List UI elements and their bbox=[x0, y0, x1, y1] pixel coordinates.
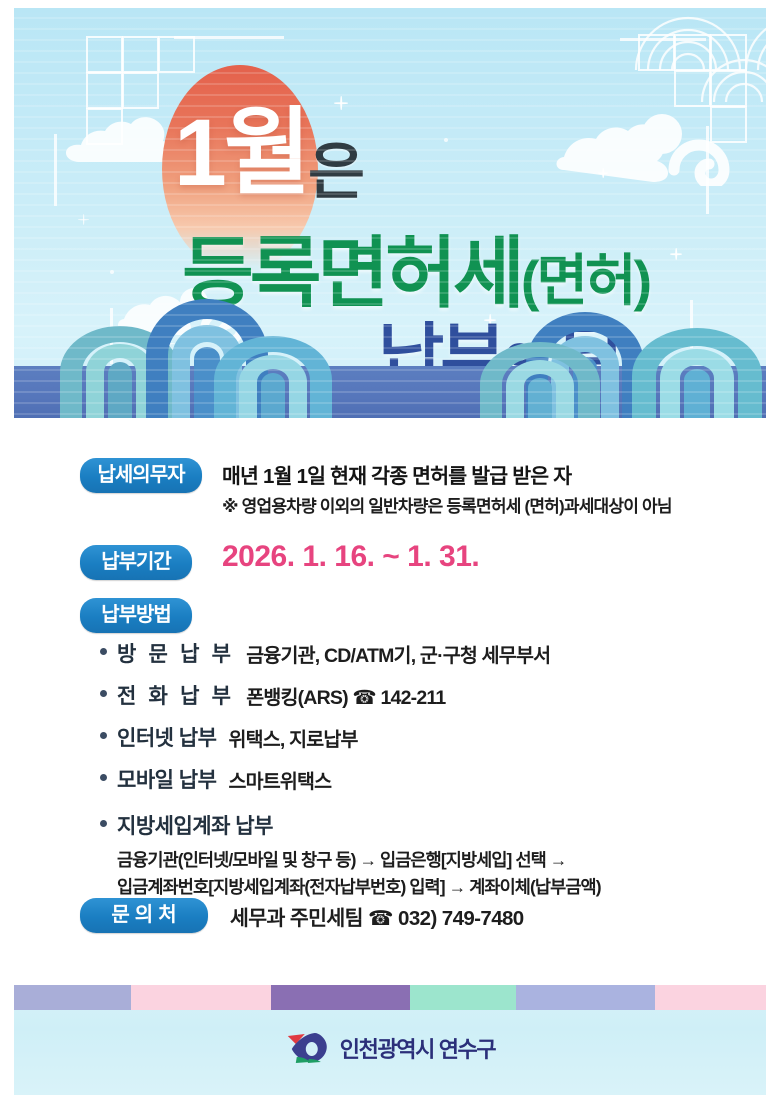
method-label: 전 화 납 부 bbox=[117, 680, 234, 710]
color-bar bbox=[14, 985, 766, 1010]
color-bar-segment bbox=[271, 985, 409, 1010]
poster-root: 1월 은 등록면허세(면허) 납부의 달 bbox=[0, 0, 780, 1103]
list-item-mobile: 모바일 납부스마트위택스 bbox=[100, 764, 740, 794]
particle-eun: 은 bbox=[308, 121, 363, 211]
list-item-internet: 인터넷 납부위택스, 지로납부 bbox=[100, 722, 740, 752]
account-step-line-2: 입금계좌번호[지방세입계좌(전자납부번호) 입력] → 계좌이체(납부금액) bbox=[117, 874, 740, 901]
yeonsu-gu-logo-icon bbox=[285, 1031, 331, 1065]
bullet-icon bbox=[100, 648, 107, 655]
concentric-rings-decor bbox=[626, 8, 766, 124]
bullet-icon bbox=[100, 732, 107, 739]
list-item-visit: 방 문 납 부금융기관, CD/ATM기, 군·구청 세무부서 bbox=[100, 638, 740, 668]
sparkle-decor bbox=[598, 168, 608, 178]
taxpayer-note-text: ※ 영업용차량 이외의 일반차량은 등록면허세 (면허)과세대상이 아님 bbox=[222, 492, 672, 517]
bullet-icon bbox=[100, 690, 107, 697]
method-value: 금융기관, CD/ATM기, 군·구청 세무부서 bbox=[246, 639, 550, 668]
arch-decor-right-b bbox=[480, 336, 600, 418]
section-period: 납부기간 2026. 1. 16. ~ 1. 31. bbox=[80, 545, 192, 580]
header-banner: 1월 은 등록면허세(면허) 납부의 달 bbox=[14, 8, 766, 418]
section-contact: 문의처 세무과 주민세팀 ☎ 032) 749-7480 bbox=[80, 898, 208, 933]
method-value: 폰뱅킹(ARS) ☎ 142-211 bbox=[246, 681, 445, 710]
account-steps: 금융기관(인터넷/모바일 및 창구 등) → 입금은행[지방세입] 선택 → 입… bbox=[117, 847, 740, 901]
arch-decor-left-c bbox=[214, 330, 332, 418]
account-step-line-1: 금융기관(인터넷/모바일 및 창구 등) → 입금은행[지방세입] 선택 → bbox=[117, 847, 740, 874]
sparkle-decor bbox=[78, 214, 89, 225]
decor-rule bbox=[174, 36, 284, 39]
taxpayer-main-text: 매년 1월 1일 현재 각종 면허를 발급 받은 자 bbox=[222, 459, 571, 489]
method-label: 방 문 납 부 bbox=[117, 638, 234, 668]
color-bar-segment bbox=[14, 985, 131, 1010]
sparkle-decor bbox=[670, 248, 682, 260]
footer-banner: 인천광역시 연수구 bbox=[14, 985, 766, 1095]
badge-taxpayer: 납세의무자 bbox=[80, 458, 202, 493]
color-bar-segment bbox=[655, 985, 766, 1010]
badge-method: 납부방법 bbox=[80, 598, 192, 633]
arch-decor-right-c bbox=[632, 322, 762, 418]
period-date-text: 2026. 1. 16. ~ 1. 31. bbox=[222, 540, 479, 574]
bullet-icon bbox=[100, 774, 107, 781]
method-label: 모바일 납부 bbox=[117, 764, 216, 794]
cloud-decor-right bbox=[554, 108, 744, 186]
sparkle-decor bbox=[334, 96, 348, 110]
method-list: 방 문 납 부금융기관, CD/ATM기, 군·구청 세무부서 전 화 납 부폰… bbox=[100, 638, 740, 913]
decor-rule bbox=[54, 134, 57, 206]
org-logo: 인천광역시 연수구 bbox=[285, 1031, 495, 1065]
badge-period: 납부기간 bbox=[80, 545, 192, 580]
list-item-account-transfer: 지방세입계좌 납부 금융기관(인터넷/모바일 및 창구 등) → 입금은행[지방… bbox=[100, 810, 740, 901]
color-bar-segment bbox=[516, 985, 655, 1010]
sparkle-dot bbox=[110, 270, 114, 274]
bullet-icon bbox=[100, 820, 107, 827]
account-label: 지방세입계좌 납부 bbox=[117, 810, 273, 840]
badge-contact: 문의처 bbox=[80, 898, 208, 933]
color-bar-segment bbox=[131, 985, 271, 1010]
list-item-phone: 전 화 납 부폰뱅킹(ARS) ☎ 142-211 bbox=[100, 680, 740, 710]
section-taxpayer: 납세의무자 매년 1월 1일 현재 각종 면허를 발급 받은 자 ※ 영업용차량… bbox=[80, 458, 202, 493]
method-label: 인터넷 납부 bbox=[117, 722, 216, 752]
section-method: 납부방법 방 문 납 부금융기관, CD/ATM기, 군·구청 세무부서 전 화… bbox=[80, 598, 192, 633]
color-bar-segment bbox=[410, 985, 516, 1010]
month-label: 1월 bbox=[174, 76, 308, 213]
contact-value-text: 세무과 주민세팀 ☎ 032) 749-7480 bbox=[230, 901, 524, 931]
sparkle-dot bbox=[444, 138, 448, 142]
org-name-text: 인천광역시 연수구 bbox=[340, 1032, 495, 1064]
account-head: 지방세입계좌 납부 bbox=[100, 810, 740, 840]
method-value: 위택스, 지로납부 bbox=[228, 723, 357, 752]
method-value: 스마트위택스 bbox=[228, 765, 331, 794]
